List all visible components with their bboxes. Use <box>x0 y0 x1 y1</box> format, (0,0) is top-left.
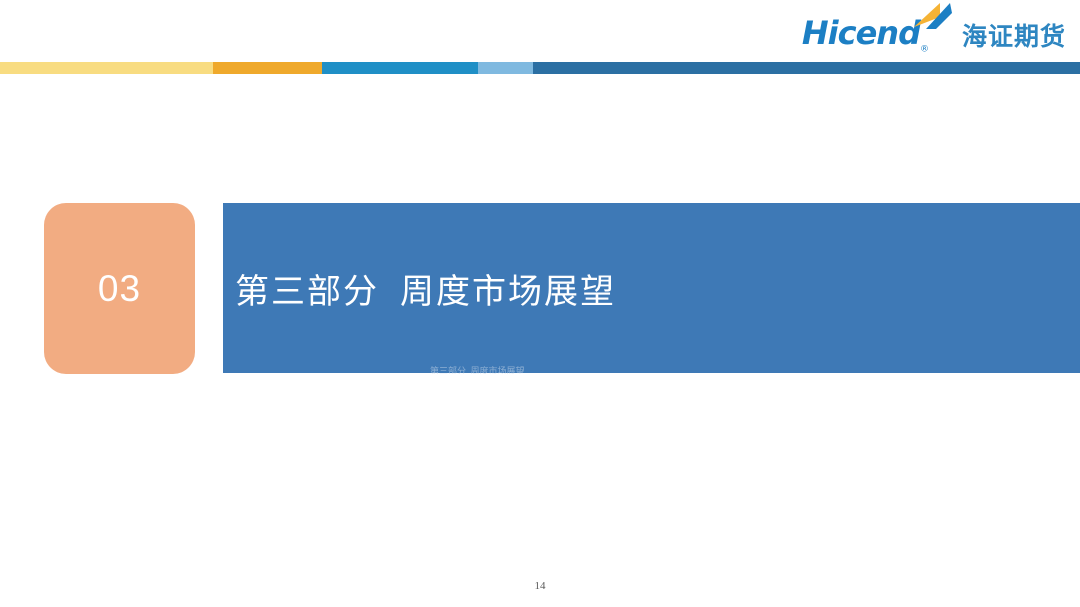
color-bar-segment-orange <box>213 62 322 74</box>
ghost-title-artifact: 第三部分 周度市场展望 <box>430 364 770 374</box>
company-logo: Hicend® 海证期货 <box>802 14 1066 58</box>
section-title-text: 第三部分 周度市场展望 <box>235 264 616 313</box>
color-bar-segment-dark-blue <box>533 62 1080 74</box>
logo-chinese-name: 海证期货 <box>962 24 1066 49</box>
color-bar-segment-light-blue <box>478 62 533 74</box>
slide-canvas: Hicend® 海证期货 03 第三部分 周度市场展望 第三部分 周度市场展望 … <box>0 0 1080 607</box>
color-bar-segment-light-yellow <box>0 62 213 74</box>
arrow-mark-icon <box>910 1 954 33</box>
header-color-bar <box>0 62 1080 74</box>
color-bar-segment-medium-blue <box>322 62 478 74</box>
registered-trademark-icon: ® <box>920 45 928 55</box>
page-number: 14 <box>0 580 1080 592</box>
logo-wordmark-text: Hicend <box>802 14 920 52</box>
section-number-badge: 03 <box>44 203 195 374</box>
section-title-banner: 第三部分 周度市场展望 <box>223 203 1080 373</box>
logo-wordmark: Hicend® <box>802 17 928 54</box>
section-number-label: 03 <box>98 268 141 310</box>
